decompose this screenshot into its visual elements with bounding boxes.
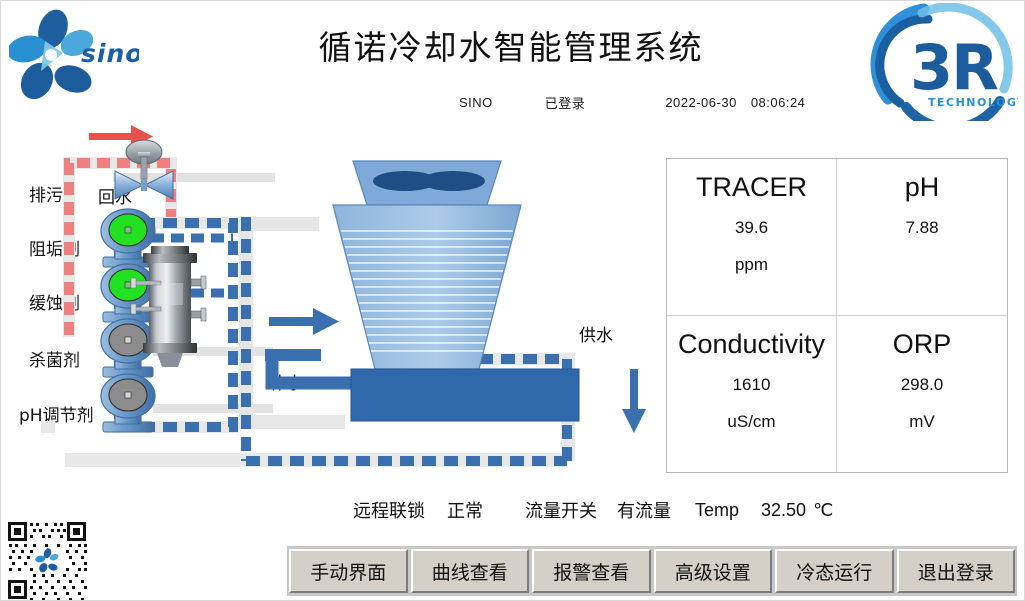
pipe-ph-inactive (153, 404, 273, 413)
temperature-label: Temp (695, 500, 739, 521)
temperature-value: 32.50 (761, 500, 806, 521)
logout-button[interactable]: 退出登录 (897, 549, 1016, 593)
manual-interface-button[interactable]: 手动界面 (289, 549, 408, 593)
measurement-conductivity: Conductivity 1610 uS/cm (667, 316, 837, 473)
flow-switch-label: 流量开关 (525, 497, 597, 523)
pump-ph-adjuster[interactable] (101, 374, 155, 432)
login-status-bar: SINO 已登录 2022-06-30 08:06:24 (381, 91, 901, 113)
advanced-settings-button[interactable]: 高级设置 (654, 549, 773, 593)
cooling-tower (333, 161, 579, 421)
remote-lock-label: 远程联锁 (353, 497, 425, 523)
login-user: SINO (459, 95, 493, 110)
flow-switch-value: 有流量 (617, 497, 671, 523)
qr-code[interactable] (5, 519, 89, 601)
curve-view-button[interactable]: 曲线查看 (411, 549, 530, 593)
svg-text:sino: sino (81, 39, 139, 68)
supply-down-arrow (622, 369, 646, 433)
cold-start-button[interactable]: 冷态运行 (775, 549, 894, 593)
orp-name: ORP (893, 326, 952, 362)
conductivity-name: Conductivity (678, 326, 825, 362)
label-supply-water: 供水 (579, 326, 613, 346)
ph-value: 7.88 (905, 218, 938, 238)
system-date: 2022-06-30 (665, 95, 737, 110)
page-title: 循诺冷却水智能管理系统 (231, 21, 791, 69)
sino-flower-logo: sino (9, 9, 139, 109)
conductivity-value: 1610 (733, 375, 771, 395)
3r-technology-logo: 3R TECHNOLOGY (866, 3, 1018, 121)
svg-text:3R: 3R (910, 31, 998, 104)
system-time: 08:06:24 (751, 95, 806, 110)
makeup-flow-arrow (269, 308, 339, 335)
ph-name: pH (905, 169, 940, 205)
alarm-view-button[interactable]: 报警查看 (532, 549, 651, 593)
svg-text:TECHNOLOGY: TECHNOLOGY (928, 96, 1018, 109)
login-state: 已登录 (545, 93, 586, 112)
tower-basin (351, 369, 579, 421)
measurement-tracer: TRACER 39.6 ppm (667, 159, 837, 316)
pump-inhibitor[interactable] (101, 264, 155, 322)
tracer-name: TRACER (696, 169, 807, 205)
fan-blade-right (421, 171, 485, 191)
toolbar: 手动界面 曲线查看 报警查看 高级设置 冷态运行 退出登录 (287, 546, 1017, 596)
pipe-blowdown (113, 173, 275, 182)
status-row: 远程联锁 正常 流量开关 有流量 Temp 32.50 ℃ (353, 495, 833, 525)
orp-unit: mV (909, 412, 935, 432)
temperature-unit: ℃ (813, 500, 833, 521)
scada-window: sino 循诺冷却水智能管理系统 SINO 已登录 2022-06-30 08:… (0, 0, 1025, 601)
remote-lock-value: 正常 (447, 497, 483, 523)
orp-value: 298.0 (901, 375, 944, 395)
measurement-orp: ORP 298.0 mV (837, 316, 1007, 473)
blowdown-valve[interactable] (115, 140, 173, 199)
tracer-unit: ppm (735, 255, 768, 275)
measurement-ph: pH 7.88 (837, 159, 1007, 316)
conductivity-unit: uS/cm (727, 412, 775, 432)
process-flow-diagram: 回水 补水 (1, 121, 671, 491)
measurement-panel: TRACER 39.6 ppm pH 7.88 Conductivity 161… (666, 158, 1008, 473)
tracer-value: 39.6 (735, 218, 768, 238)
